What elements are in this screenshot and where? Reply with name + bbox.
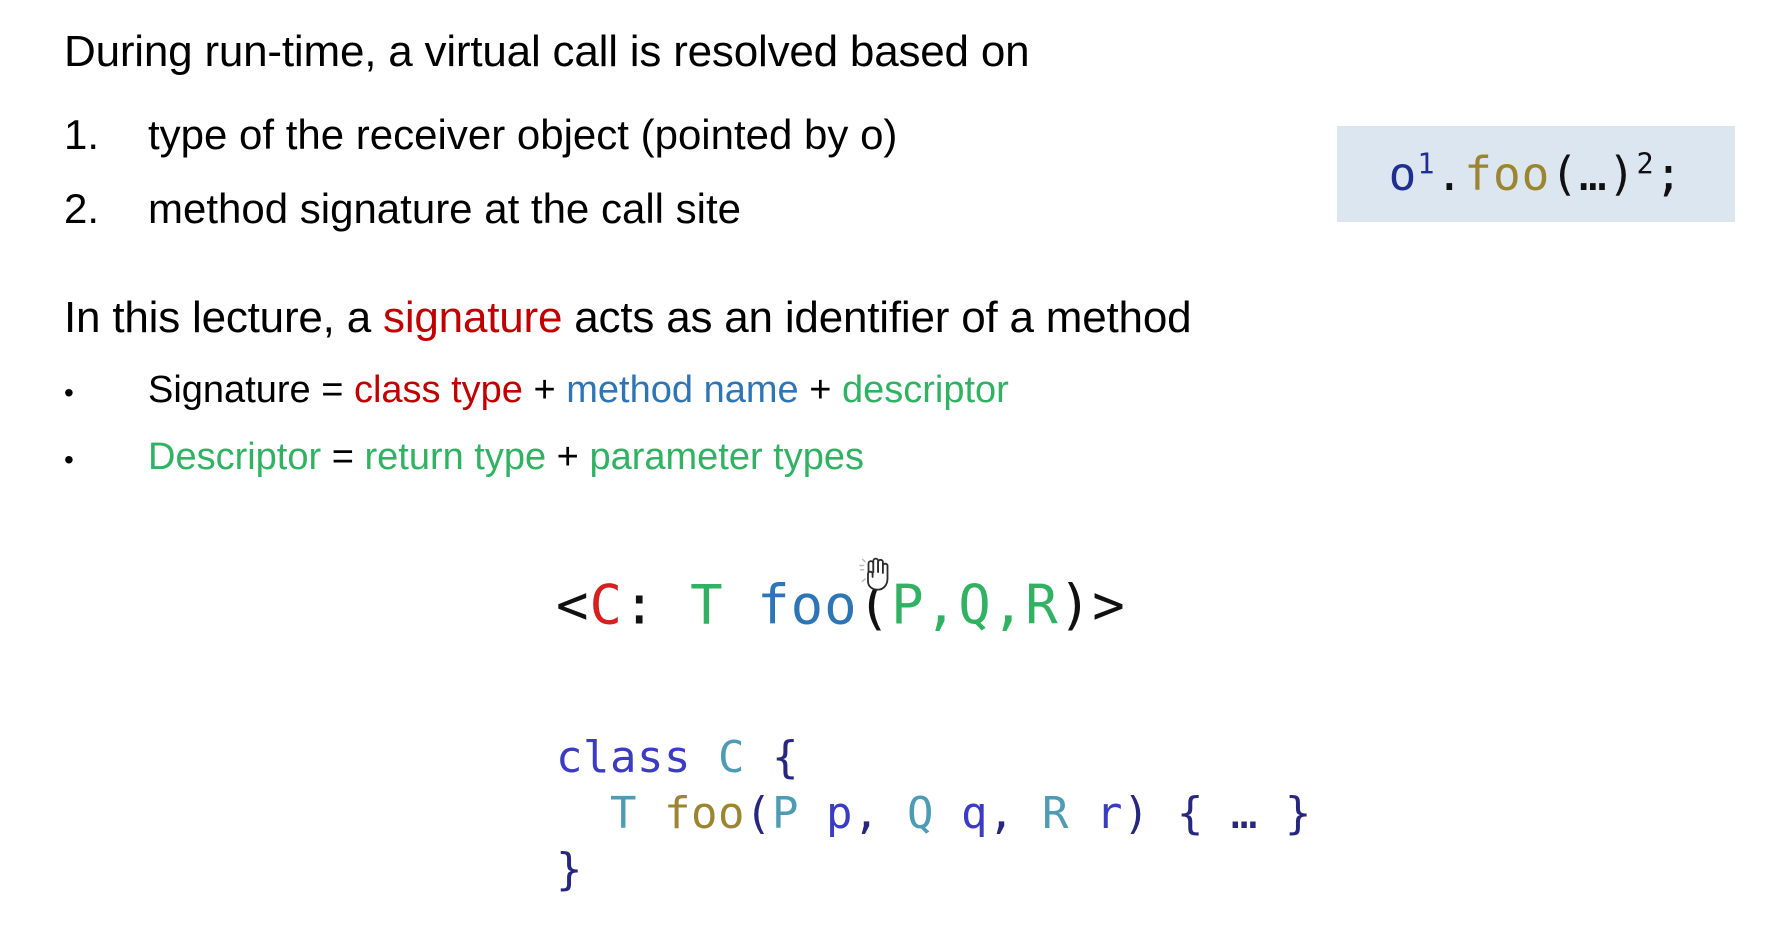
list-text-2: method signature at the call site xyxy=(148,172,741,246)
signature-close-paren: ) xyxy=(1059,574,1093,637)
code-param-type-P: P xyxy=(772,788,799,839)
code-space-3 xyxy=(799,788,826,839)
lecture-heading: In this lecture, a signature acts as an … xyxy=(64,296,1191,340)
code-indent xyxy=(556,788,610,839)
signature-comma-2: , xyxy=(992,574,1026,637)
callsite-dot: . xyxy=(1436,147,1465,201)
code-open-brace: { xyxy=(745,732,799,783)
bullet-list: • Signature = class type + method name +… xyxy=(64,358,1009,492)
bullet-marker-1: • xyxy=(64,361,148,425)
signature-space-2 xyxy=(724,574,758,637)
code-line-1: class C { xyxy=(556,732,799,783)
code-param-var-r: r xyxy=(1096,788,1123,839)
callsite-receiver: o xyxy=(1389,147,1418,201)
lecture-heading-suffix: acts as an identifier of a method xyxy=(562,293,1191,342)
signature-notation: <C: T foo(P,Q,R)> xyxy=(556,574,1126,637)
bullet1-part-method-name: method name xyxy=(566,369,798,411)
bullet1-part-plus1: + xyxy=(523,369,566,411)
bullet2-part-plus: + xyxy=(546,436,589,478)
signature-open-angle: < xyxy=(556,574,590,637)
signature-param-1: P xyxy=(891,574,925,637)
callsite-receiver-superscript: 1 xyxy=(1417,148,1435,181)
numbered-list: 1. type of the receiver object (pointed … xyxy=(64,98,897,246)
code-param-type-Q: Q xyxy=(907,788,934,839)
bullet1-part-plus2: + xyxy=(799,369,842,411)
code-return-type-T: T xyxy=(610,788,637,839)
lecture-heading-prefix: In this lecture, a xyxy=(64,293,383,342)
slide-canvas: During run-time, a virtual call is resol… xyxy=(0,0,1774,932)
signature-comma-1: , xyxy=(925,574,959,637)
bullet1-part-class-type: class type xyxy=(354,369,523,411)
code-comma-1: , xyxy=(853,788,907,839)
bullet2-part-descriptor: Descriptor xyxy=(148,436,321,478)
callsite-ellipsis: … xyxy=(1579,147,1608,201)
code-class-name-C: C xyxy=(718,732,745,783)
bullet-text-2: Descriptor = return type + parameter typ… xyxy=(148,425,864,489)
code-space-1 xyxy=(691,732,718,783)
numbered-list-item: 1. type of the receiver object (pointed … xyxy=(64,98,897,172)
code-space-2 xyxy=(637,788,664,839)
code-open-paren: ( xyxy=(745,788,772,839)
signature-colon: : xyxy=(623,574,657,637)
signature-space-1 xyxy=(657,574,691,637)
callsite-snippet-box: o1.foo(…)2; xyxy=(1337,126,1735,222)
bullet-item-descriptor: • Descriptor = return type + parameter t… xyxy=(64,425,1009,492)
code-space-4 xyxy=(934,788,961,839)
bullet-marker-2: • xyxy=(64,428,148,492)
java-code-block: class C { T foo(P p, Q q, R r) { … } } xyxy=(556,730,1312,898)
signature-return-type: T xyxy=(690,574,724,637)
callsite-expression: o1.foo(…)2; xyxy=(1389,147,1684,201)
bullet-text-1: Signature = class type + method name + d… xyxy=(148,358,1009,422)
callsite-semicolon: ; xyxy=(1655,147,1684,201)
signature-param-2: Q xyxy=(958,574,992,637)
intro-heading: During run-time, a virtual call is resol… xyxy=(64,30,1029,74)
code-param-var-p: p xyxy=(826,788,853,839)
code-param-type-R: R xyxy=(1042,788,1069,839)
bullet1-part-descriptor: descriptor xyxy=(842,369,1009,411)
code-param-var-q: q xyxy=(961,788,988,839)
code-body-ellipsis: ) { … } xyxy=(1123,788,1312,839)
bullet1-part-signature: Signature xyxy=(148,369,311,411)
list-marker-1: 1. xyxy=(64,98,148,172)
signature-close-angle: > xyxy=(1092,574,1126,637)
callsite-call-superscript: 2 xyxy=(1636,148,1654,181)
bullet1-part-eq: = xyxy=(311,369,354,411)
signature-method-name: foo xyxy=(757,574,858,637)
bullet-item-signature: • Signature = class type + method name +… xyxy=(64,358,1009,425)
code-line-2: T foo(P p, Q q, R r) { … } xyxy=(556,788,1312,839)
list-marker-2: 2. xyxy=(64,172,148,246)
signature-class-type: C xyxy=(590,574,624,637)
bullet2-part-eq: = xyxy=(321,436,364,478)
code-space-5 xyxy=(1069,788,1096,839)
code-line-3-close-brace: } xyxy=(556,844,583,895)
bullet2-part-parameter-types: parameter types xyxy=(589,436,864,478)
bullet2-part-return-type: return type xyxy=(364,436,546,478)
code-comma-2: , xyxy=(988,788,1042,839)
list-text-1: type of the receiver object (pointed by … xyxy=(148,98,897,172)
callsite-open-paren: ( xyxy=(1550,147,1579,201)
code-keyword-class: class xyxy=(556,732,691,783)
code-method-name-foo: foo xyxy=(664,788,745,839)
callsite-close-paren: ) xyxy=(1608,147,1637,201)
numbered-list-item: 2. method signature at the call site xyxy=(64,172,897,246)
lecture-heading-highlight: signature xyxy=(383,293,562,342)
signature-param-3: R xyxy=(1025,574,1059,637)
callsite-method: foo xyxy=(1464,147,1550,201)
signature-open-paren: ( xyxy=(858,574,892,637)
